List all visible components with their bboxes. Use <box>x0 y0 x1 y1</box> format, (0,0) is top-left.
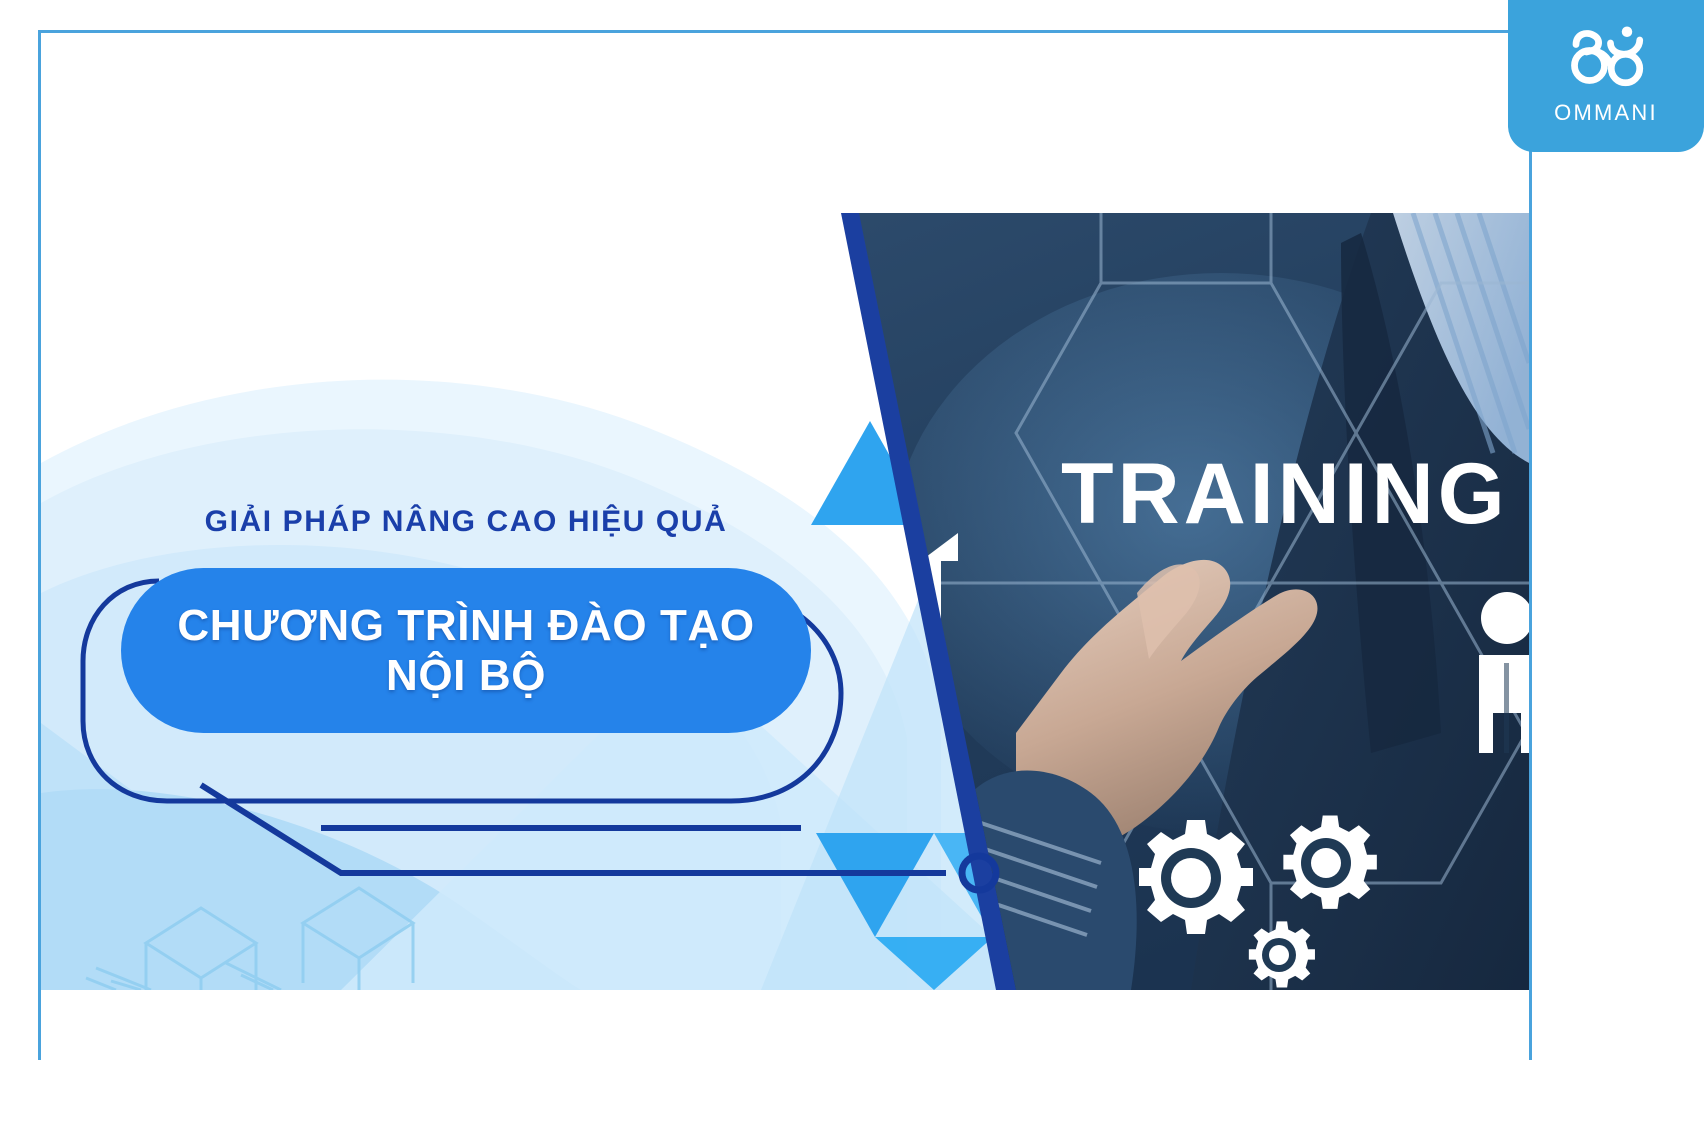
bindu-dot-icon <box>1622 27 1633 38</box>
gear-icon-small <box>1249 921 1315 987</box>
banner-canvas: TRAINING <box>41 33 1529 990</box>
frame-line-left <box>38 30 41 1060</box>
main-title-text: CHƯƠNG TRÌNH ĐÀO TẠO NỘI BỘ <box>177 601 754 700</box>
frame-line-top <box>38 30 1532 33</box>
gear-icon-large <box>1139 820 1253 934</box>
om-symbol-icon <box>1560 22 1652 94</box>
frame-line-right <box>1529 30 1532 1060</box>
page-headline: GIẢI PHÁP NÂNG CAO HIỆU QUẢ <box>166 505 766 539</box>
brand-name: OMMANI <box>1554 100 1658 126</box>
main-title-pill: CHƯƠNG TRÌNH ĐÀO TẠO NỘI BỘ <box>121 568 811 733</box>
main-title-line-1: CHƯƠNG TRÌNH ĐÀO TẠO <box>177 601 754 650</box>
brand-logo-badge[interactable]: OMMANI <box>1508 0 1704 152</box>
photo-training-text: TRAINING <box>1061 446 1509 542</box>
person-icon <box>1479 592 1529 753</box>
main-title-line-2: NỘI BỘ <box>386 651 546 700</box>
gear-icon-medium <box>1283 815 1376 908</box>
banner-page: TRAINING <box>0 0 1704 1144</box>
